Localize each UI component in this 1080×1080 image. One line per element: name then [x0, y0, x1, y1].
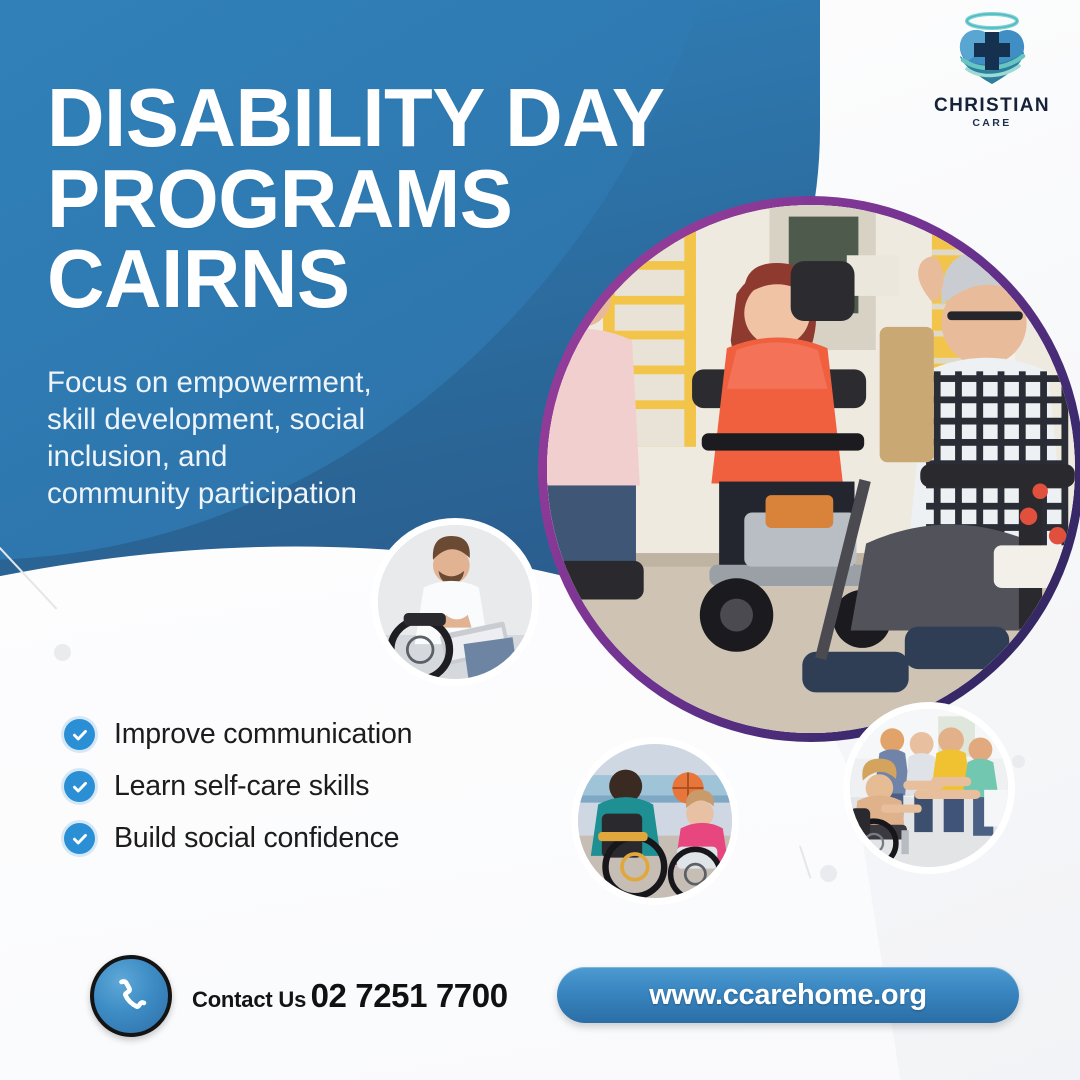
website-button[interactable]: www.ccarehome.org [557, 967, 1019, 1023]
decorative-dot-far-right [1012, 755, 1025, 768]
list-item: Build social confidence [64, 822, 412, 855]
check-circle-icon [64, 719, 95, 750]
decorative-dot-right [820, 865, 837, 882]
list-item: Learn self-care skills [64, 770, 412, 803]
subtitle-line-1: Focus on empowerment, [47, 365, 447, 402]
hero-photo-illustration [547, 205, 1075, 733]
subtitle-line-3: inclusion, and [47, 439, 447, 476]
subtitle-line-2: skill development, social [47, 402, 447, 439]
hero-photo [547, 205, 1075, 733]
brand-logo: CHRISTIAN CARE [926, 12, 1058, 129]
logo-name: CHRISTIAN [926, 96, 1058, 115]
contact-text: Contact Us 02 7251 7700 [192, 979, 508, 1014]
benefits-list: Improve communication Learn self-care sk… [64, 718, 412, 874]
contact-label: Contact Us [192, 987, 306, 1012]
inset-photo-basketball [571, 737, 739, 905]
logo-subtitle: CARE [926, 118, 1058, 129]
contact-block: Contact Us 02 7251 7700 [90, 955, 508, 1037]
website-url: www.ccarehome.org [649, 979, 926, 1012]
inset-photo-laptop [371, 518, 539, 686]
subtitle-line-4: community participation [47, 476, 447, 513]
list-item-label: Learn self-care skills [114, 770, 369, 803]
list-item-label: Build social confidence [114, 822, 399, 855]
phone-number[interactable]: 02 7251 7700 [311, 977, 508, 1014]
inset-photo-teamwork-illustration [850, 709, 1008, 867]
decorative-dot-left [54, 644, 71, 661]
phone-icon [90, 955, 172, 1037]
inset-photo-basketball-illustration [578, 744, 732, 898]
inset-photo-teamwork [843, 702, 1015, 874]
christian-care-logo-icon [946, 12, 1038, 94]
check-circle-icon [64, 823, 95, 854]
poster-canvas: CHRISTIAN CARE DISABILITY DAY PROGRAMS C… [0, 0, 1080, 1080]
headline-line-1: DISABILITY DAY [47, 78, 719, 159]
list-item: Improve communication [64, 718, 412, 751]
inset-photo-laptop-illustration [378, 525, 532, 679]
subtitle: Focus on empowerment, skill development,… [47, 365, 447, 513]
hero-photo-ring [538, 196, 1080, 742]
list-item-label: Improve communication [114, 718, 412, 751]
check-circle-icon [64, 771, 95, 802]
